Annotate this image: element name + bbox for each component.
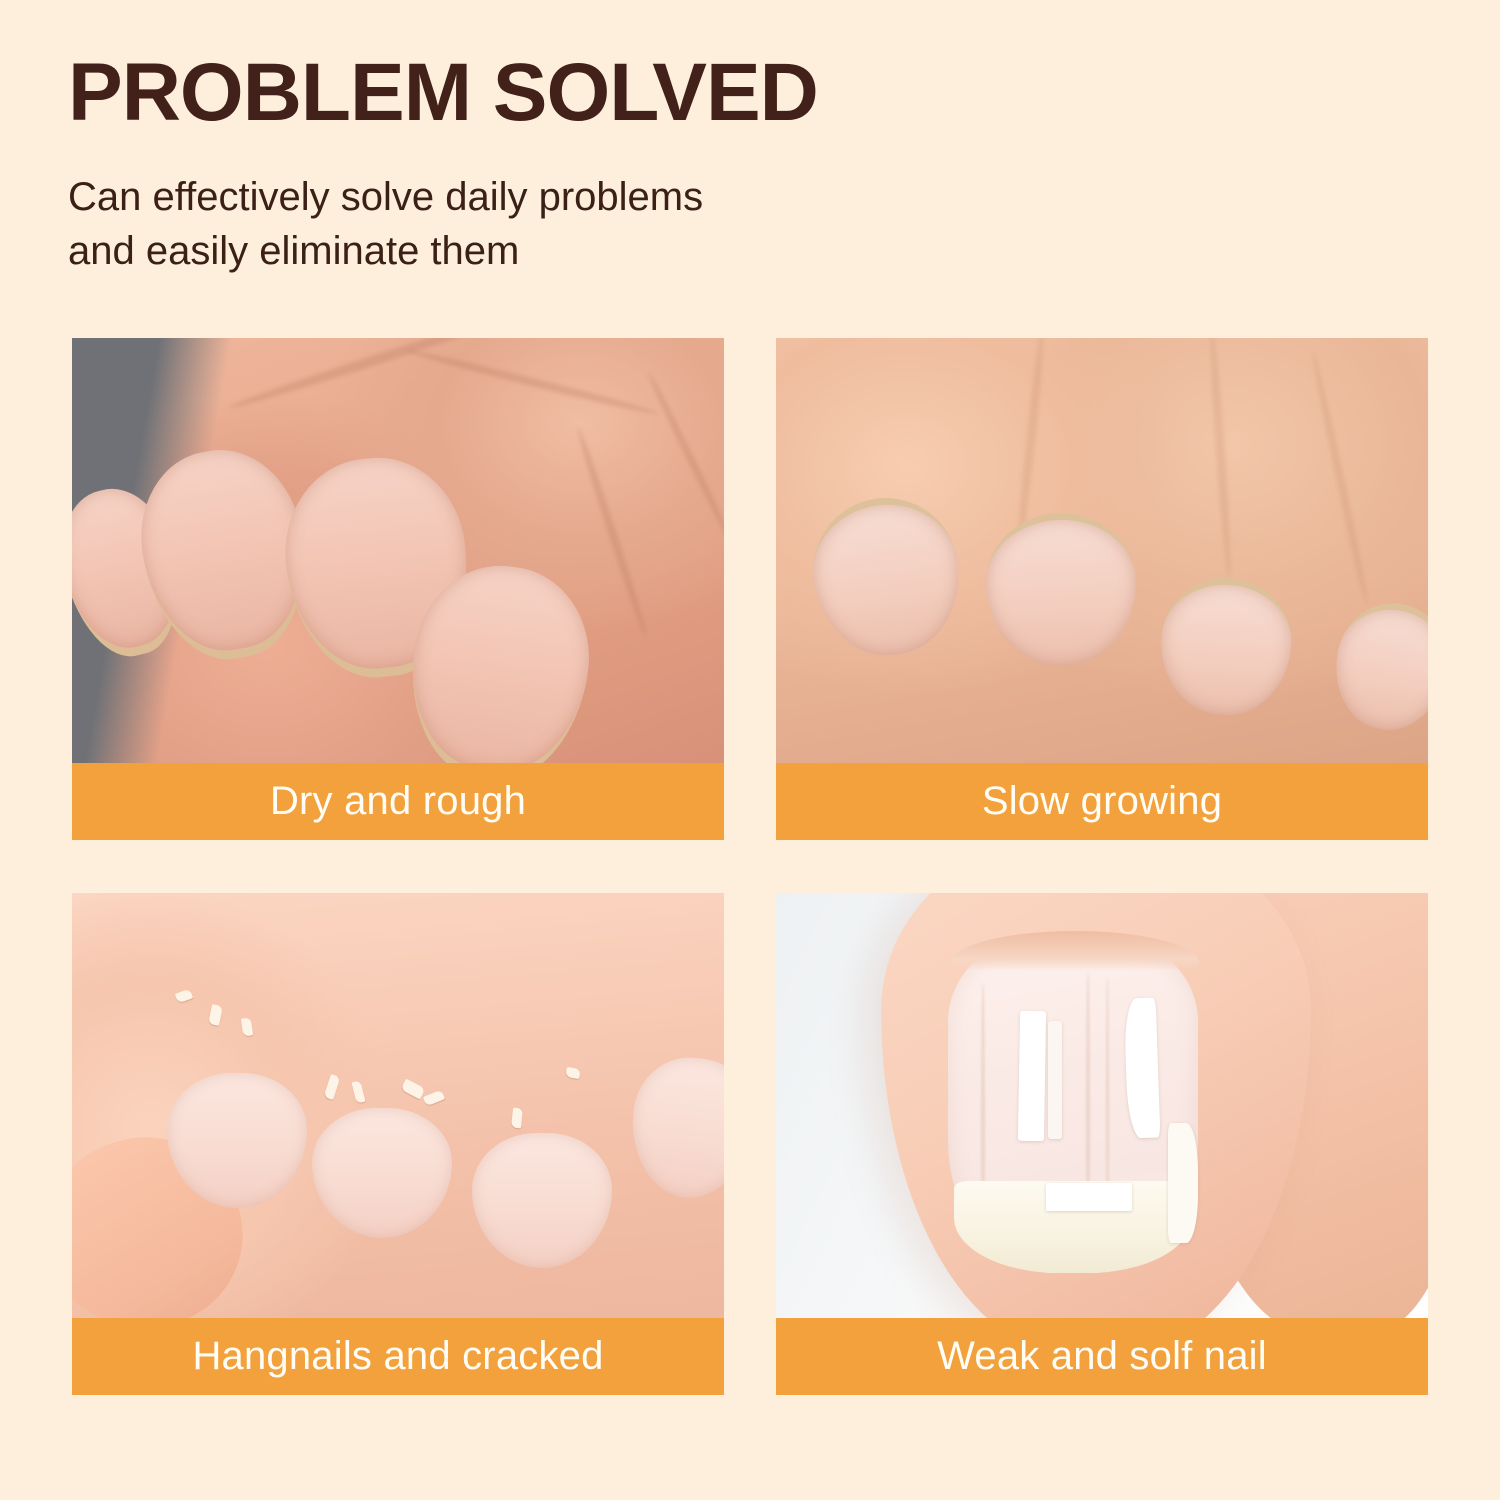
page-subtitle: Can effectively solve daily problems and… <box>68 138 1048 278</box>
problem-card-slow-growing[interactable]: Slow growing <box>776 338 1428 840</box>
caption-bar: Hangnails and cracked <box>72 1318 724 1395</box>
infographic-page: PROBLEM SOLVED Can effectively solve dai… <box>0 0 1500 1500</box>
fingernail <box>804 489 969 665</box>
caption-bar: Slow growing <box>776 763 1428 840</box>
caption-bar: Dry and rough <box>72 763 724 840</box>
problem-card-dry-and-rough[interactable]: Dry and rough <box>72 338 724 840</box>
photo-slow-growing <box>776 338 1428 763</box>
card-caption: Hangnails and cracked <box>192 1334 603 1379</box>
fingernail <box>312 1108 452 1238</box>
hangnail-flake <box>324 1074 341 1100</box>
peeling-nail-layer <box>1168 1123 1198 1243</box>
fingernail <box>1156 574 1295 720</box>
hangnail-flake <box>175 989 193 1004</box>
skin-crease <box>405 347 659 418</box>
hangnail-flake <box>400 1079 425 1100</box>
photo-dry-and-rough <box>72 338 724 763</box>
hangnail-flake <box>565 1067 581 1079</box>
problem-card-weak-and-soft-nail[interactable]: Weak and solf nail <box>776 893 1428 1395</box>
hangnail-flake <box>511 1108 523 1129</box>
hangnail-flake <box>208 1004 223 1026</box>
page-title: PROBLEM SOLVED <box>68 48 1268 138</box>
photo-weak-and-soft-nail <box>776 893 1428 1318</box>
photo-hangnails-and-cracked <box>72 893 724 1318</box>
hangnail-flake <box>241 1017 253 1036</box>
fingernail <box>472 1133 612 1268</box>
problem-card-hangnails-and-cracked[interactable]: Hangnails and cracked <box>72 893 724 1395</box>
peeling-nail-layer <box>1048 1021 1062 1139</box>
skin-crease <box>228 338 516 412</box>
card-caption: Slow growing <box>982 779 1222 824</box>
card-caption: Weak and solf nail <box>937 1334 1267 1379</box>
skin-crease <box>645 370 724 553</box>
fingernail <box>983 510 1138 667</box>
peeling-nail-layer <box>1046 1183 1132 1211</box>
header: PROBLEM SOLVED Can effectively solve dai… <box>68 48 1268 278</box>
fingernail <box>625 1052 724 1204</box>
peeling-nail-layer <box>1018 1011 1046 1141</box>
card-caption: Dry and rough <box>270 779 526 824</box>
finger-separation-line <box>1309 350 1371 606</box>
skin-crease <box>574 426 650 638</box>
caption-bar: Weak and solf nail <box>776 1318 1428 1395</box>
subtitle-line-2: and easily eliminate them <box>68 224 1048 278</box>
problem-card-grid: Dry and rough Slow growing <box>72 338 1428 1395</box>
subtitle-line-1: Can effectively solve daily problems <box>68 170 1048 224</box>
hangnail-flake <box>423 1090 445 1107</box>
finger-separation-line <box>1207 338 1233 578</box>
hangnail-flake <box>351 1080 365 1104</box>
fingernail <box>1326 594 1428 738</box>
